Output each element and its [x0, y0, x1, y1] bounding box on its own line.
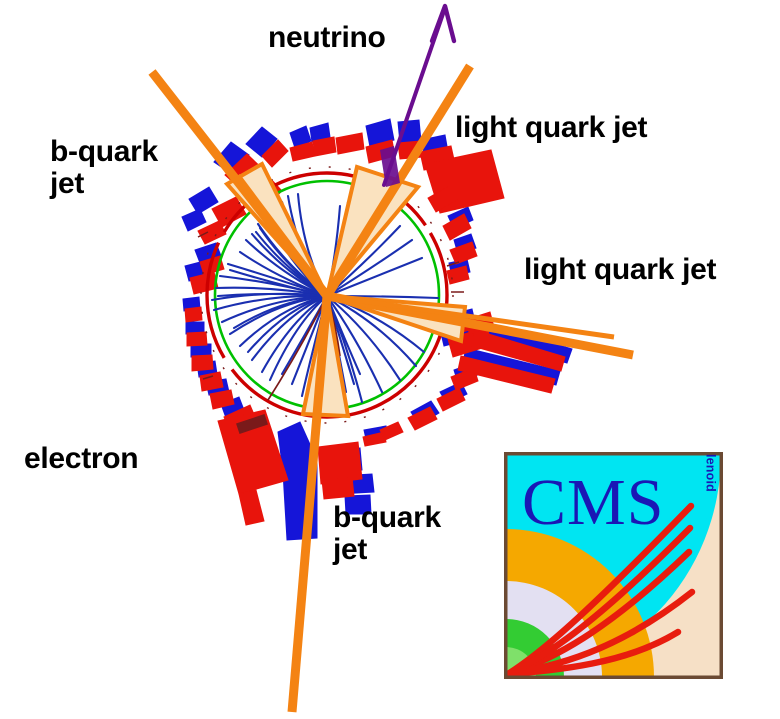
cms-wordmark: CMS: [522, 470, 664, 536]
cms-subtitle: Compact Muon Solenoid: [704, 452, 718, 492]
annotation-bquark-jet-upper-left: b-quark jet: [50, 136, 158, 200]
cms-logo: CMS Compact Muon Solenoid: [504, 452, 723, 679]
event-display-figure: neutrino b-quark jet light quark jet lig…: [0, 0, 780, 719]
annotation-light-quark-jet-right: light quark jet: [524, 254, 716, 286]
jet-cone-group: [227, 164, 465, 416]
primary-vertex: [323, 292, 332, 301]
annotation-bquark-jet-lower: b-quark jet: [333, 502, 441, 566]
jet-axis-upper-left-inner: [237, 176, 327, 296]
annotation-neutrino: neutrino: [268, 22, 386, 54]
annotation-light-quark-jet-upper: light quark jet: [455, 112, 647, 144]
annotation-electron: electron: [24, 443, 138, 475]
